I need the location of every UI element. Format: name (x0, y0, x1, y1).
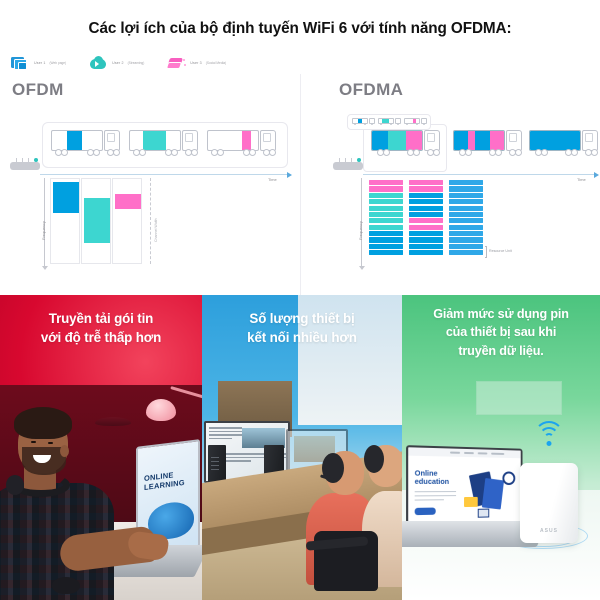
ceiling-lamp-icon (95, 417, 131, 426)
router-icon-ofdma (333, 158, 363, 170)
resource-unit-cell (409, 186, 443, 191)
ofdma-frequency-label: Frequency (358, 221, 363, 240)
resource-unit-cell (369, 250, 403, 255)
ofdm-truck-1 (51, 130, 127, 162)
person-eye-left (31, 441, 36, 443)
ofdm-slot-2 (81, 178, 111, 264)
resource-unit-cell (449, 231, 483, 236)
resource-unit-cell (409, 206, 443, 211)
resource-unit-cell (369, 186, 403, 191)
ofdma-zoom-inset (347, 114, 431, 130)
resource-unit-cell (409, 212, 443, 217)
education-illustration (458, 465, 517, 523)
legend-item-user-2: User 2 (Streaming) (88, 56, 144, 71)
resource-unit-cell (409, 250, 443, 255)
resource-unit-cell (449, 218, 483, 223)
ofdma-truck-2 (453, 130, 529, 162)
resource-unit-cell (449, 225, 483, 230)
legend-item-user-3: User 3 (Social Media) (166, 56, 226, 71)
panel-battery-saving: Online education ASUS Giảm mức sử dụng p… (402, 295, 600, 600)
legend-sub-user-3: (Social Media) (206, 61, 226, 65)
panel-devices-caption-line-1: Số lượng thiết bị (202, 309, 402, 328)
ofdm-frequency-label: Frequency (41, 221, 46, 240)
panel-battery-caption-line-1: Giảm mức sử dụng pin (402, 305, 600, 323)
resource-unit-cell (409, 237, 443, 242)
laptop-screen-text: Online education (415, 470, 460, 487)
resource-unit-cell (449, 186, 483, 191)
resource-unit-cell (449, 250, 483, 255)
legend-label-user-2: User 2 (112, 61, 124, 65)
ofdma-ru-column-2 (409, 180, 443, 255)
resource-unit-cell (369, 237, 403, 242)
diagram-section: OFDM (0, 74, 600, 295)
resource-unit-cell (409, 180, 443, 185)
browser-windows-icon (10, 56, 30, 71)
legend-label-user-3: User 3 (190, 61, 202, 65)
ofdma-truck-3 (529, 130, 600, 162)
panel-devices-caption-line-2: kết nối nhiều hơn (202, 328, 402, 347)
screen-cta-button[interactable] (415, 508, 436, 516)
resource-unit-cell (449, 206, 483, 211)
resource-unit-cell (369, 244, 403, 249)
ofdm-time-axis (40, 174, 288, 175)
resource-unit-cell (449, 180, 483, 185)
resource-unit-cell (369, 199, 403, 204)
resource-unit-cell (449, 237, 483, 242)
legend-sub-user-1: (Web page) (50, 61, 67, 65)
resource-unit-cell (409, 199, 443, 204)
mesh-router-device: ASUS (520, 463, 578, 543)
ofdm-truck-lane (42, 122, 288, 168)
router-brand-label: ASUS (520, 528, 578, 534)
panel-latency-caption: Truyền tải gói tin với độ trễ thấp hơn (0, 295, 202, 348)
benefit-panels: ONLINE LEARNING Truyền tải gói tin với đ… (0, 295, 600, 600)
ofdm-truck-3 (207, 130, 283, 162)
resource-unit-cell (409, 244, 443, 249)
diagram-ofdm: OFDM (0, 74, 300, 295)
ofdma-resource-unit-label: Resource Unit (489, 249, 512, 253)
resource-unit-cell (449, 244, 483, 249)
resource-unit-cell (369, 212, 403, 217)
resource-unit-cell (449, 199, 483, 204)
legend-label-user-1: User 1 (34, 61, 46, 65)
diagram-ofdm-title: OFDM (12, 80, 300, 100)
panel-devices-caption: Số lượng thiết bị kết nối nhiều hơn (202, 295, 402, 348)
laptop-screen-online-education: Online education (406, 445, 522, 527)
resource-unit-cell (369, 193, 403, 198)
ofdma-ru-column-3 (449, 180, 483, 255)
cloud-play-icon (88, 56, 108, 71)
ofdma-ru-column-1 (369, 180, 403, 255)
resource-unit-cell (449, 212, 483, 217)
legend-sub-user-2: (Streaming) (128, 61, 145, 65)
ofdm-slot-1 (50, 178, 80, 264)
resource-unit-cell (369, 180, 403, 185)
panel-more-devices: Số lượng thiết bị kết nối nhiều hơn (202, 295, 402, 600)
ofdma-time-label: Time (577, 177, 586, 182)
user-legend: User 1 (Web page) User 2 (Streaming) Use… (0, 52, 600, 74)
resource-unit-cell (409, 231, 443, 236)
resource-unit-cell (369, 218, 403, 223)
panel-latency-caption-line-2: với độ trễ thấp hơn (0, 328, 202, 347)
panel-latency-caption-line-1: Truyền tải gói tin (0, 309, 202, 328)
ofdm-time-label: Time (268, 177, 277, 182)
page-title: Các lợi ích của bộ định tuyến WiFi 6 với… (89, 20, 512, 38)
laptop-screen-text: ONLINE LEARNING (144, 467, 200, 493)
person-eye-right (48, 442, 53, 444)
resource-unit-cell (369, 225, 403, 230)
resource-unit-cell (409, 218, 443, 223)
browser-toolbar (408, 447, 520, 458)
screen-body-text (415, 491, 456, 503)
resource-unit-cell (409, 193, 443, 198)
desk-lamp-icon (146, 399, 176, 421)
ofdm-slot-3 (112, 178, 142, 264)
resource-unit-cell (369, 231, 403, 236)
ofdma-truck-1 (371, 130, 447, 162)
person-ear (60, 445, 69, 457)
headphones-cup-icon (6, 475, 24, 495)
ofdma-time-axis (363, 174, 595, 175)
wifi-signal-icon (532, 421, 566, 447)
person-hair (14, 407, 72, 439)
panel-battery-caption-line-3: truyền dữ liệu. (402, 342, 600, 360)
resource-unit-cell (449, 193, 483, 198)
ofdm-channel-width-label: Channel Width (154, 218, 158, 242)
panel-battery-wall-panel (476, 381, 562, 415)
ofdm-truck-2 (129, 130, 205, 162)
diagram-ofdma-title: OFDMA (339, 80, 600, 100)
diagram-ofdma: OFDMA (300, 74, 600, 295)
resource-unit-cell (409, 225, 443, 230)
panel-battery-caption: Giảm mức sử dụng pin của thiết bị sau kh… (402, 295, 600, 360)
header: Các lợi ích của bộ định tuyến WiFi 6 với… (0, 0, 600, 52)
resource-unit-cell (369, 206, 403, 211)
router-icon-ofdm (10, 158, 40, 170)
panel-battery-caption-line-2: của thiết bị sau khi (402, 323, 600, 341)
legend-item-user-1: User 1 (Web page) (10, 56, 66, 71)
chat-bubbles-icon (166, 56, 186, 71)
ofdm-frequency-chart: Frequency Channel Width (44, 178, 174, 266)
panel-low-latency: ONLINE LEARNING Truyền tải gói tin với đ… (0, 295, 202, 600)
computer-mouse-icon (52, 577, 80, 594)
ofdma-resource-grid: Frequency Resource Unit (361, 178, 511, 266)
